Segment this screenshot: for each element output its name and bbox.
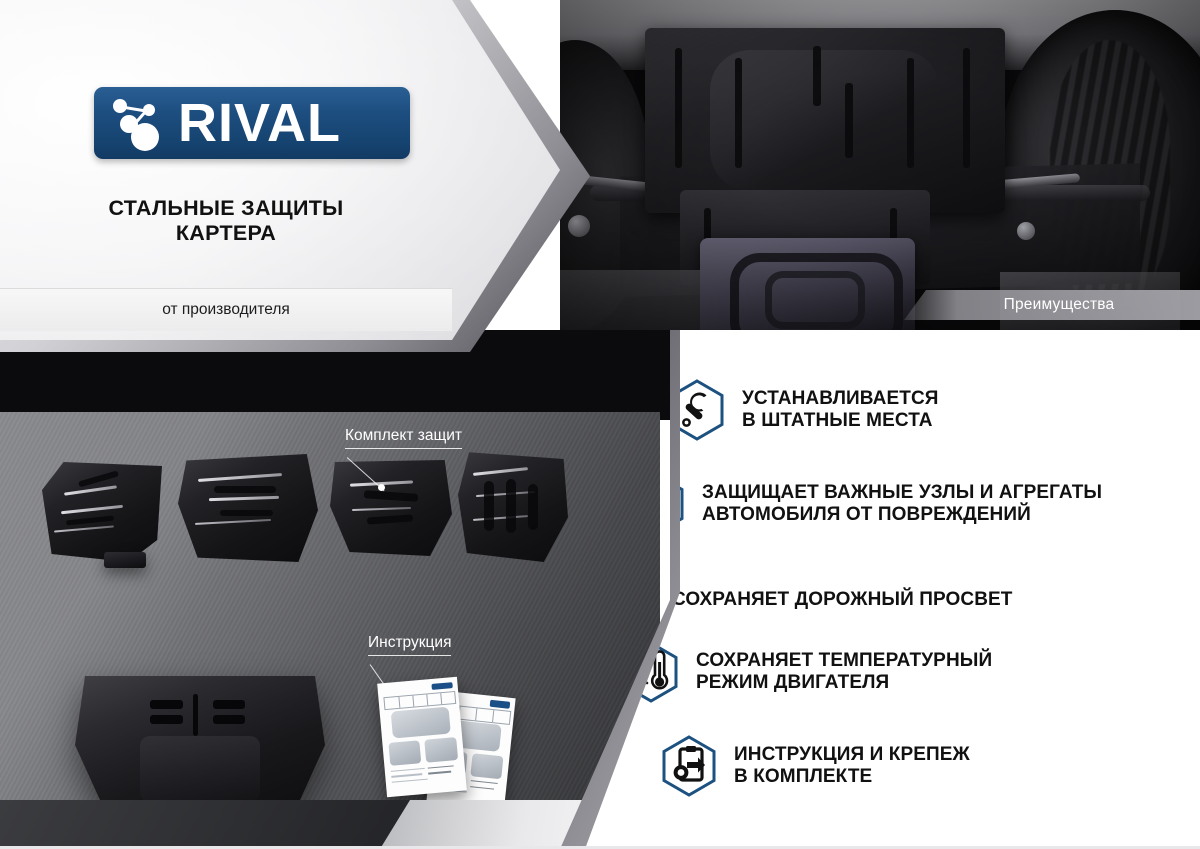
callout-kit: Комплект защит <box>345 427 462 449</box>
feature-install-line2: В ШТАТНЫЕ МЕСТА <box>742 410 939 432</box>
feature-item-kit: ИНСТРУКЦИЯ И КРЕПЕЖ В КОМПЛЕКТЕ <box>660 734 970 798</box>
callout-kit-rule <box>345 448 462 449</box>
callout-manual: Инструкция <box>368 634 451 656</box>
feature-kit-line1: ИНСТРУКЦИЯ И КРЕПЕЖ <box>734 744 970 766</box>
skid-plate-1-tab <box>104 552 146 568</box>
skid-plate-3 <box>330 458 452 558</box>
feature-temperature-line2: РЕЖИМ ДВИГАТЕЛЯ <box>696 672 992 694</box>
feature-protect-line1: ЗАЩИЩАЕТ ВАЖНЫЕ УЗЛЫ И АГРЕГАТЫ <box>702 482 1102 504</box>
skid-plate-1 <box>42 462 162 562</box>
feature-item-install: УСТАНАВЛИВАЕТСЯ В ШТАТНЫЕ МЕСТА <box>668 378 939 442</box>
callout-kit-label: Комплект защит <box>345 427 462 448</box>
feature-kit-line2: В КОМПЛЕКТЕ <box>734 766 970 788</box>
advantages-label: Преимущества <box>1004 296 1115 314</box>
feature-install-line1: УСТАНАВЛИВАЕТСЯ <box>742 388 939 410</box>
poster-root: Преимущества <box>0 0 1200 849</box>
feature-clearance-text: СОХРАНЯЕТ ДОРОЖНЫЙ ПРОСВЕТ <box>672 589 1013 611</box>
product-showcase-area: Комплект защит Инструкция Крепеж <box>0 412 660 849</box>
feature-install-text: УСТАНАВЛИВАЕТСЯ В ШТАТНЫЕ МЕСТА <box>742 388 939 431</box>
rival-logo[interactable]: RIVAL <box>94 87 410 159</box>
callout-manual-rule <box>368 655 451 656</box>
rival-wordmark: RIVAL <box>178 96 341 150</box>
instruction-sheet-front <box>377 677 467 798</box>
feature-item-protect: ЗАЩИЩАЕТ ВАЖНЫЕ УЗЛЫ И АГРЕГАТЫ АВТОМОБИ… <box>628 472 1102 536</box>
callout-manual-label: Инструкция <box>368 634 451 655</box>
advantages-ribbon: Преимущества <box>904 290 1200 320</box>
photo-vignette <box>560 0 1200 340</box>
feature-kit-text: ИНСТРУКЦИЯ И КРЕПЕЖ В КОМПЛЕКТЕ <box>734 744 970 787</box>
feature-temperature-text: СОХРАНЯЕТ ТЕМПЕРАТУРНЫЙ РЕЖИМ ДВИГАТЕЛЯ <box>696 650 992 693</box>
skid-plate-2 <box>178 454 318 562</box>
skid-plate-4 <box>458 450 568 562</box>
feature-clearance-line1: СОХРАНЯЕТ ДОРОЖНЫЙ ПРОСВЕТ <box>672 589 1013 611</box>
subtitle-bar: от производителя <box>0 288 452 331</box>
subtitle-text: от производителя <box>162 301 290 319</box>
clipboard-bolt-icon <box>660 734 718 798</box>
feature-protect-text: ЗАЩИЩАЕТ ВАЖНЫЕ УЗЛЫ И АГРЕГАТЫ АВТОМОБИ… <box>702 482 1102 525</box>
page-title: СТАЛЬНЫЕ ЗАЩИТЫ КАРТЕРА <box>0 196 452 246</box>
feature-temperature-line1: СОХРАНЯЕТ ТЕМПЕРАТУРНЫЙ <box>696 650 992 672</box>
callout-kit-dot <box>378 484 385 491</box>
bottom-dark-strip <box>0 800 410 849</box>
page-title-line1: СТАЛЬНЫЕ ЗАЩИТЫ <box>108 196 343 220</box>
engine-skid-plate-main <box>75 667 325 817</box>
page-title-line2: КАРТЕРА <box>176 221 276 245</box>
feature-protect-line2: АВТОМОБИЛЯ ОТ ПОВРЕЖДЕНИЙ <box>702 504 1102 526</box>
molecule-icon <box>106 93 180 153</box>
feature-item-temperature: СОХРАНЯЕТ ТЕМПЕРАТУРНЫЙ РЕЖИМ ДВИГАТЕЛЯ <box>622 640 992 704</box>
underbody-photo: Преимущества <box>560 0 1200 340</box>
